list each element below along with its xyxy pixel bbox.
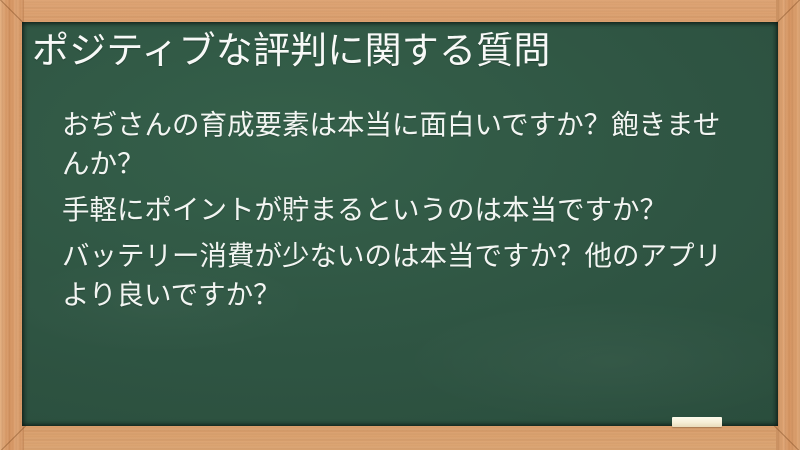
- frame-rail-right: [776, 0, 800, 450]
- chalkboard-slide: ポジティブな評判に関する質問 おぢさんの育成要素は本当に面白いですか？飽きません…: [0, 0, 800, 450]
- frame-rail-left: [0, 0, 24, 450]
- list-item: 手軽にポイントが貯まるというのは本当ですか？: [62, 191, 744, 230]
- list-item: バッテリー消費が少ないのは本当ですか？他のアプリより良いですか？: [62, 237, 744, 315]
- question-list: おぢさんの育成要素は本当に面白いですか？飽きませんか？ 手軽にポイントが貯まると…: [62, 106, 744, 322]
- chalkboard-surface: ポジティブな評判に関する質問 おぢさんの育成要素は本当に面白いですか？飽きません…: [22, 22, 778, 426]
- list-item: おぢさんの育成要素は本当に面白いですか？飽きませんか？: [62, 106, 744, 184]
- slide-title: ポジティブな評判に関する質問: [32, 30, 760, 71]
- chalk-stick-icon: [672, 417, 722, 427]
- chalkboard-content: ポジティブな評判に関する質問 おぢさんの育成要素は本当に面白いですか？飽きません…: [22, 22, 778, 426]
